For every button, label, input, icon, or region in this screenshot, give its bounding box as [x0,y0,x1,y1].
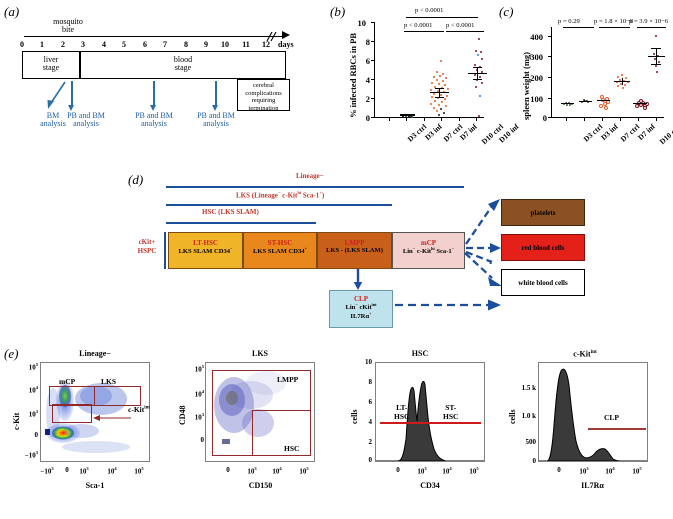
tick-2: 2 [56,40,70,49]
ckit-int-xtick-1e5: 105 [625,466,649,475]
ckit-int-ytick-1500: 1.5 k [508,384,536,392]
bm-analysis-arrow [46,81,68,111]
lineage-ytick-0: 0 [14,431,38,439]
panel-c-pbar-d3 [563,27,594,28]
panel-b-pvalue-left: p < 0.0001 [404,22,432,29]
lks-plot-xlabel: CD150 [233,481,288,490]
panel-c-xcat-d7inf: D7 inf [636,122,657,142]
panel-b-xtick-6 [476,118,477,121]
cell-box-st-hsc: ST-HSC LKS SLAM CD34+ [243,232,317,269]
tick-1: 1 [35,40,49,49]
panel-b-pbar-left [404,31,444,32]
panel-b-xtick-4 [441,118,442,121]
panel-c-ytick-100: 100 [525,94,543,104]
hsc-ytick-8: 8 [352,378,372,386]
lks-ytick-1e4: 104 [180,389,204,398]
panel-b-xtick-3 [424,118,425,121]
tick-10: 10 [218,40,232,49]
panel-b-xtick-5 [459,118,460,121]
panel-b-ytickmark-4 [371,79,374,80]
hsc-xtick-1e4: 104 [435,466,459,475]
ckit-int-pointer-arrow [92,409,132,417]
output-box-white-blood-cells: white blood cells [501,269,585,296]
lineage-plot-ylabel: c-Kit [12,413,21,430]
panel-c-ytick-400: 400 [525,32,543,42]
cell-box-lt-hsc: LT-HSC LKS SLAM CD34− [168,232,243,269]
lineage-bar-label: Lineage− [296,172,324,180]
panel-b-pvalue-right: p < 0.0001 [446,22,474,29]
panel-b-x-axis [374,117,484,118]
ckit-int-histogram-title: c-Kitint [540,349,630,359]
panel-c-ytickmark-400 [548,36,551,37]
panel-b-xtick-1 [389,118,390,121]
panel-b-ytick-4: 4 [352,75,370,85]
pb-bm-d3-arrow-shaft [71,81,73,107]
hsc-bar-label: HSC (LKS SLAM) [202,208,259,216]
hsc-bar [166,222,316,224]
tick-11: 11 [239,40,253,49]
cell-box-mcp: mCP Lin− c-Kithi Sca-1− [392,232,465,269]
gate-clp-label: CLP [604,413,619,422]
lineage-xtick-1e3: 103 [72,466,96,475]
output-box-platelets: platelets [501,199,585,226]
panel-b-pbar-top [406,17,478,18]
panel-c-xcat-d10ctrl: D10 ctrl [658,122,673,146]
hsc-ytick-6: 6 [352,398,372,406]
panel-b-ytick-0: 0 [352,113,370,123]
hsc-histogram-xlabel: CD34 [405,481,455,490]
lks-ytick-0: 0 [180,436,204,444]
panel-c-ytickmark-0 [548,117,551,118]
panel-b-ytickmark-0 [371,117,374,118]
panel-b-pvalue-top: p < 0.0001 [415,7,443,14]
lineage-ytick-1e5: 105 [14,362,38,371]
ckit-int-xtick-1e3: 103 [572,466,596,475]
lks-plot-ylabel: CD48 [178,405,187,425]
lineage-xtick-1e5: 105 [127,466,151,475]
tick-8: 8 [179,40,193,49]
gate-st-hsc-label: ST- HSC [443,404,458,421]
tick-3: 3 [76,40,90,49]
lineage-bar [166,186,464,188]
ckit-int-ytick-0: 0 [508,457,536,465]
pb-bm-d7-analysis-label: PB and BM analysis [126,112,182,129]
gate-hsc-v-divider [252,410,253,456]
ckit-int-histogram-ylabel: cells [508,409,517,424]
tick-4: 4 [97,40,111,49]
hsc-histogram-curve [376,363,484,461]
panel-c-pvalue-d10: p = 3.9 × 10−6 [629,18,668,25]
panel-b-ytick-2: 2 [352,94,370,104]
panel-c-xtick-4 [620,118,621,121]
lks-ytick-1e5: 105 [180,364,204,373]
lineage-ytick-1e4: 104 [14,385,38,394]
panel-c-ylabel: spleen weight (mg) [521,52,531,120]
panel-b-ytick-8: 8 [352,37,370,47]
gate-ckit-int-label: c-Kitint [128,405,150,414]
hsc-xtick-1e5: 105 [462,466,486,475]
lks-xtick-1e4: 104 [265,466,289,475]
panel-c-ytick-200: 200 [525,73,543,83]
panel-d-label: (d) [128,172,143,188]
ckit-int-histogram-curve [539,363,647,461]
pb-bm-d10-analysis-label: PB and BM analysis [188,112,244,129]
mosquito-bite-label: mosquito bite [42,18,94,35]
clp-to-wbc-arrow [393,296,505,314]
hsc-xtick-0: 0 [392,466,404,474]
termination-box: cerebral complications requiring termina… [237,79,290,111]
hsc-ytick-0: 0 [352,456,372,464]
panel-c-pvalue-d3: p = 0.29 [558,18,580,25]
lks-bar-label: LKS (Lineage− c-Kithi Sca-1+) [236,190,324,199]
lks-xtick-0: 0 [222,466,234,474]
hsc-ytick-2: 2 [352,438,372,446]
ckit-int-ytick-500: 500 [508,438,536,446]
ckit-int-xtick-1e4: 104 [598,466,622,475]
platelets-label: platelets [531,209,556,217]
lks-xtick-1e5: 105 [292,466,316,475]
timeline-arrowhead [282,31,290,39]
tick-7: 7 [158,40,172,49]
hsc-ytick-10: 10 [352,358,372,366]
lineage-xtick-1e4: 104 [100,466,124,475]
cell-box-lmpp: LMPP LKS - (LKS SLAM) [317,232,392,269]
panel-b-pbar-right [446,31,484,32]
lineage-plot-xlabel: Sca-1 [70,481,120,490]
panel-b-y-axis [374,22,375,118]
pb-bm-d3-analysis-label: PB and BM analysis [44,112,128,129]
panel-b-label: (b) [330,4,345,20]
red-blood-cells-label: red blood cells [521,244,564,252]
liver-stage-box: liver stage [22,51,80,79]
panel-b-xtick-2 [406,118,407,121]
tick-0: 0 [15,40,29,49]
panel-c-label: (c) [499,4,513,20]
gate-hsc-h-divider [252,410,311,411]
ckit-int-histogram-xlabel: IL7Rα [565,481,620,490]
cell-box-clp: CLP Lin− cKitint IL7Rα+ [329,290,393,328]
hsc-xtick-1e3: 103 [410,466,434,475]
hsc-histogram-box [375,362,485,462]
panel-c-y-axis [551,27,552,118]
mcp-to-wbc-arrow [464,250,506,290]
gate-hsc-threshold-line [380,422,481,424]
lineage-xtick-neg1e3: −103 [33,466,61,475]
panel-c-ytick-300: 300 [525,52,543,62]
panel-c-xtick-6 [656,118,657,121]
panel-b-ytick-10: 10 [348,18,366,28]
figure-root: (a) mosquito bite days 0 1 2 3 4 5 6 7 8… [0,0,673,519]
tick-12: 12 [259,40,273,49]
gate-lt-hsc-label: LT- HSC [394,404,409,421]
lmpp-to-clp-arrow [353,269,363,291]
panel-c-xtick-2 [584,118,585,121]
gate-mcp-lks-divider [94,386,95,406]
tick-9: 9 [199,40,213,49]
panel-c-ytickmark-100 [548,98,551,99]
panel-b-ytickmark-2 [371,98,374,99]
timeline-axis [24,36,282,37]
output-box-red-blood-cells: red blood cells [501,234,585,261]
mcp-stub-dash [465,248,485,252]
lks-xtick-1e3: 103 [240,466,264,475]
panel-c-xcat-d3inf: D3 inf [599,122,620,142]
hsc-histogram-title: HSC [375,349,465,358]
gate-lmpp-label: LMPP [277,375,298,384]
panel-e-label: (e) [4,346,18,362]
ckit-int-xtick-0: 0 [553,466,565,474]
panel-a-label: (a) [4,4,19,20]
panel-c-xtick-3 [602,118,603,121]
timeline-break-icon [266,29,276,38]
panel-c-pbar-d10 [637,27,666,28]
panel-b-ytickmark-10 [371,22,374,23]
axis-unit-label: days [278,40,294,49]
lineage-plot-title: Lineage− [45,349,145,358]
pb-bm-d10-arrow-shaft [215,81,217,107]
ckit-int-histogram-box [538,362,648,462]
tick-5: 5 [117,40,131,49]
panel-c-pvalue-d7: p = 1.8 × 10−8 [594,18,633,25]
hspc-left-bracket [164,232,166,269]
blood-stage-box: blood stage [80,51,286,79]
panel-b-ytickmark-8 [371,41,374,42]
lineage-ytick-neg1e3: −103 [8,450,38,459]
panel-c-ytickmark-200 [548,77,551,78]
gate-hsc-label: HSC [284,444,299,453]
gate-clp-threshold-line [588,428,646,430]
hsc-histogram-ylabel: cells [350,409,359,424]
panel-b-ytick-6: 6 [352,56,370,66]
lks-bar [166,204,392,206]
panel-c-xtick-5 [638,118,639,121]
panel-b-xcat-d3inf: D3 inf [423,122,444,142]
lks-plot-title: LKS [215,349,305,358]
panel-c-pbar-d7 [599,27,630,28]
pb-bm-d7-arrow-shaft [153,81,155,107]
white-blood-cells-label: white blood cells [518,279,567,287]
panel-c-ytick-0: 0 [529,113,547,123]
panel-c-xtick-1 [566,118,567,121]
tick-6: 6 [138,40,152,49]
panel-b-ytickmark-6 [371,60,374,61]
ckit-hspc-label: cKit+ HSPC [132,238,162,256]
panel-c-ytickmark-300 [548,56,551,57]
gate-ckit-int-rect [52,404,92,423]
gate-lks-label: LKS [101,377,116,386]
gate-mcp-label: mCP [59,377,75,386]
panel-c-x-axis [551,117,664,118]
